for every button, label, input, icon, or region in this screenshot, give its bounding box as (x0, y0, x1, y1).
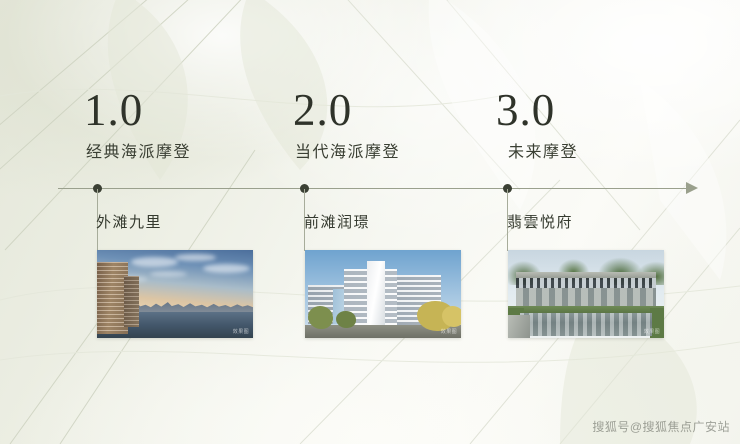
stage-1-photo-watermark: 效果图 (233, 328, 249, 335)
stage-1-project-name: 外滩九里 (96, 215, 162, 230)
stage-1-photo[interactable]: 效果图 (97, 250, 253, 338)
stage-3-generation-number: 3.0 (496, 88, 555, 133)
stage-3-photo-watermark: 效果图 (644, 328, 660, 335)
sohu-watermark: 搜狐号@搜狐焦点广安站 (592, 418, 730, 435)
watermark-prefix-text: 搜狐号@搜狐焦点广安站 (592, 418, 730, 435)
stage-1-generation-number: 1.0 (84, 88, 143, 133)
stage-2-tagline: 当代海派摩登 (295, 145, 400, 161)
slide-canvas: 1.0 经典海派摩登 外滩九里 效果图 2.0 当代海派摩登 前滩润璟 (0, 0, 740, 444)
timeline-axis-line (58, 188, 688, 189)
stage-3-tagline: 未来摩登 (508, 145, 578, 161)
stage-3-photo[interactable]: 效果图 (508, 250, 664, 338)
stage-2-project-name: 前滩润璟 (304, 215, 370, 230)
stage-2-generation-number: 2.0 (293, 88, 352, 133)
stage-1-tagline: 经典海派摩登 (86, 145, 191, 161)
timeline-arrow-icon (686, 182, 698, 194)
stage-2-photo-watermark: 效果图 (441, 328, 457, 335)
stage-3-project-name: 翡雲悦府 (507, 215, 573, 230)
stage-2-photo[interactable]: 效果图 (305, 250, 461, 338)
